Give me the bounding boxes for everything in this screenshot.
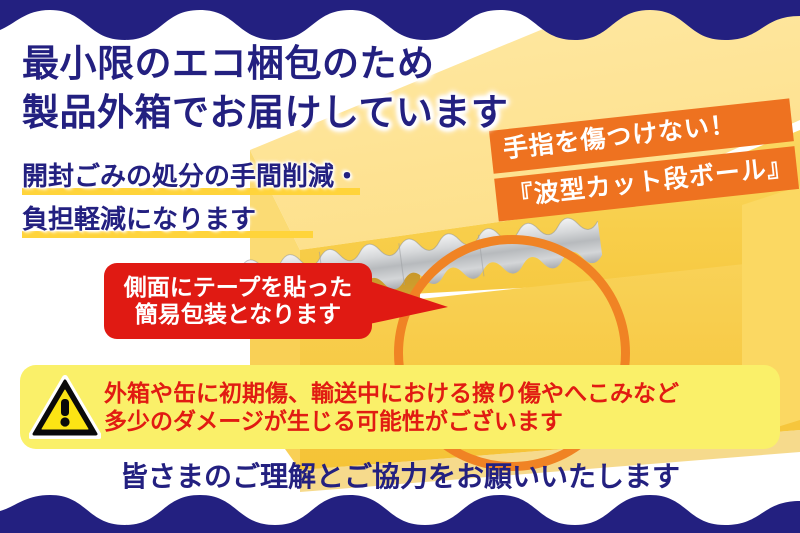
red-callout-line-1: 側面にテープを貼った [124, 274, 353, 301]
headline-line-2: 製品外箱でお届けしています [22, 89, 508, 138]
red-pointer-arrow [360, 272, 450, 332]
page-title: 最小限のエコ梱包のため 製品外箱でお届けしています [22, 40, 508, 138]
warning-line-2: 多少のダメージが生じる可能性がございます [104, 407, 679, 435]
subheadline: 開封ごみの処分の手間削減・ 負担軽減になります [22, 163, 360, 249]
red-callout-box: 側面にテープを貼った 簡易包装となります [104, 263, 372, 339]
warning-panel: 外箱や缶に初期傷、輸送中における擦り傷やへこみなど 多少のダメージが生じる可能性… [20, 365, 780, 449]
warning-triangle-icon [28, 374, 102, 440]
promo-banner: 最小限のエコ梱包のため 製品外箱でお届けしています 開封ごみの処分の手間削減・ … [0, 0, 800, 533]
bottom-wave-decoration [0, 489, 800, 533]
top-wave-decoration [0, 0, 800, 44]
red-callout-line-2: 簡易包装となります [135, 301, 341, 328]
subheadline-line-1: 開封ごみの処分の手間削減・ [22, 163, 360, 193]
warning-text: 外箱や缶に初期傷、輸送中における擦り傷やへこみなど 多少のダメージが生じる可能性… [104, 379, 679, 435]
warning-line-1: 外箱や缶に初期傷、輸送中における擦り傷やへこみなど [104, 379, 679, 407]
subheadline-line-2: 負担軽減になります [22, 206, 360, 236]
headline-line-1: 最小限のエコ梱包のため [22, 40, 508, 89]
